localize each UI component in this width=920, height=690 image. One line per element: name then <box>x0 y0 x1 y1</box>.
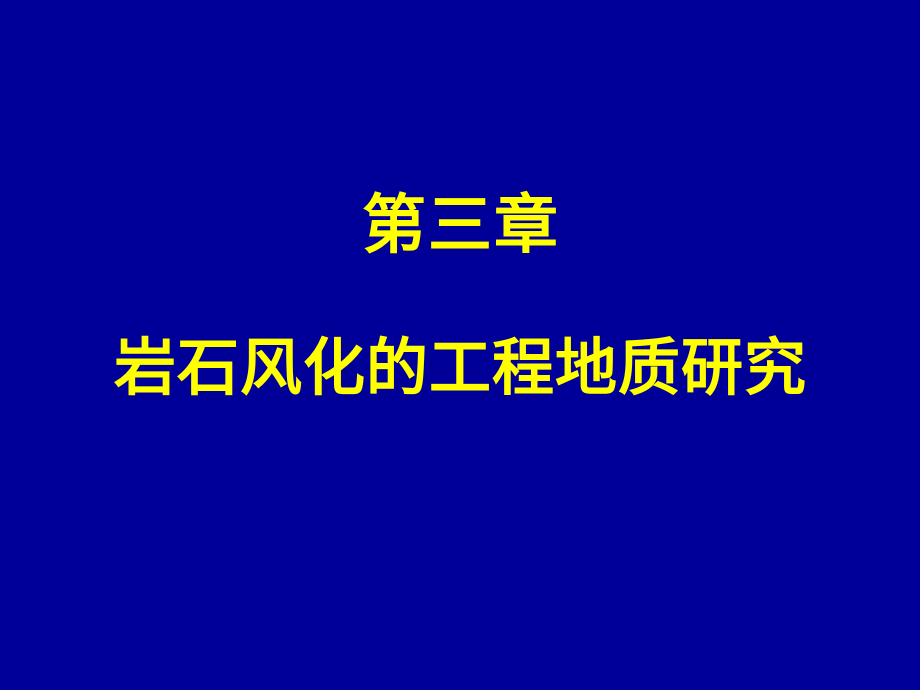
slide-title-heading: 岩石风化的工程地质研究 <box>113 337 807 399</box>
slide-title-block: 第三章 岩石风化的工程地质研究 <box>0 0 920 690</box>
slide-chapter-heading: 第三章 <box>360 194 560 258</box>
presentation-slide: 第三章 岩石风化的工程地质研究 <box>0 0 920 690</box>
